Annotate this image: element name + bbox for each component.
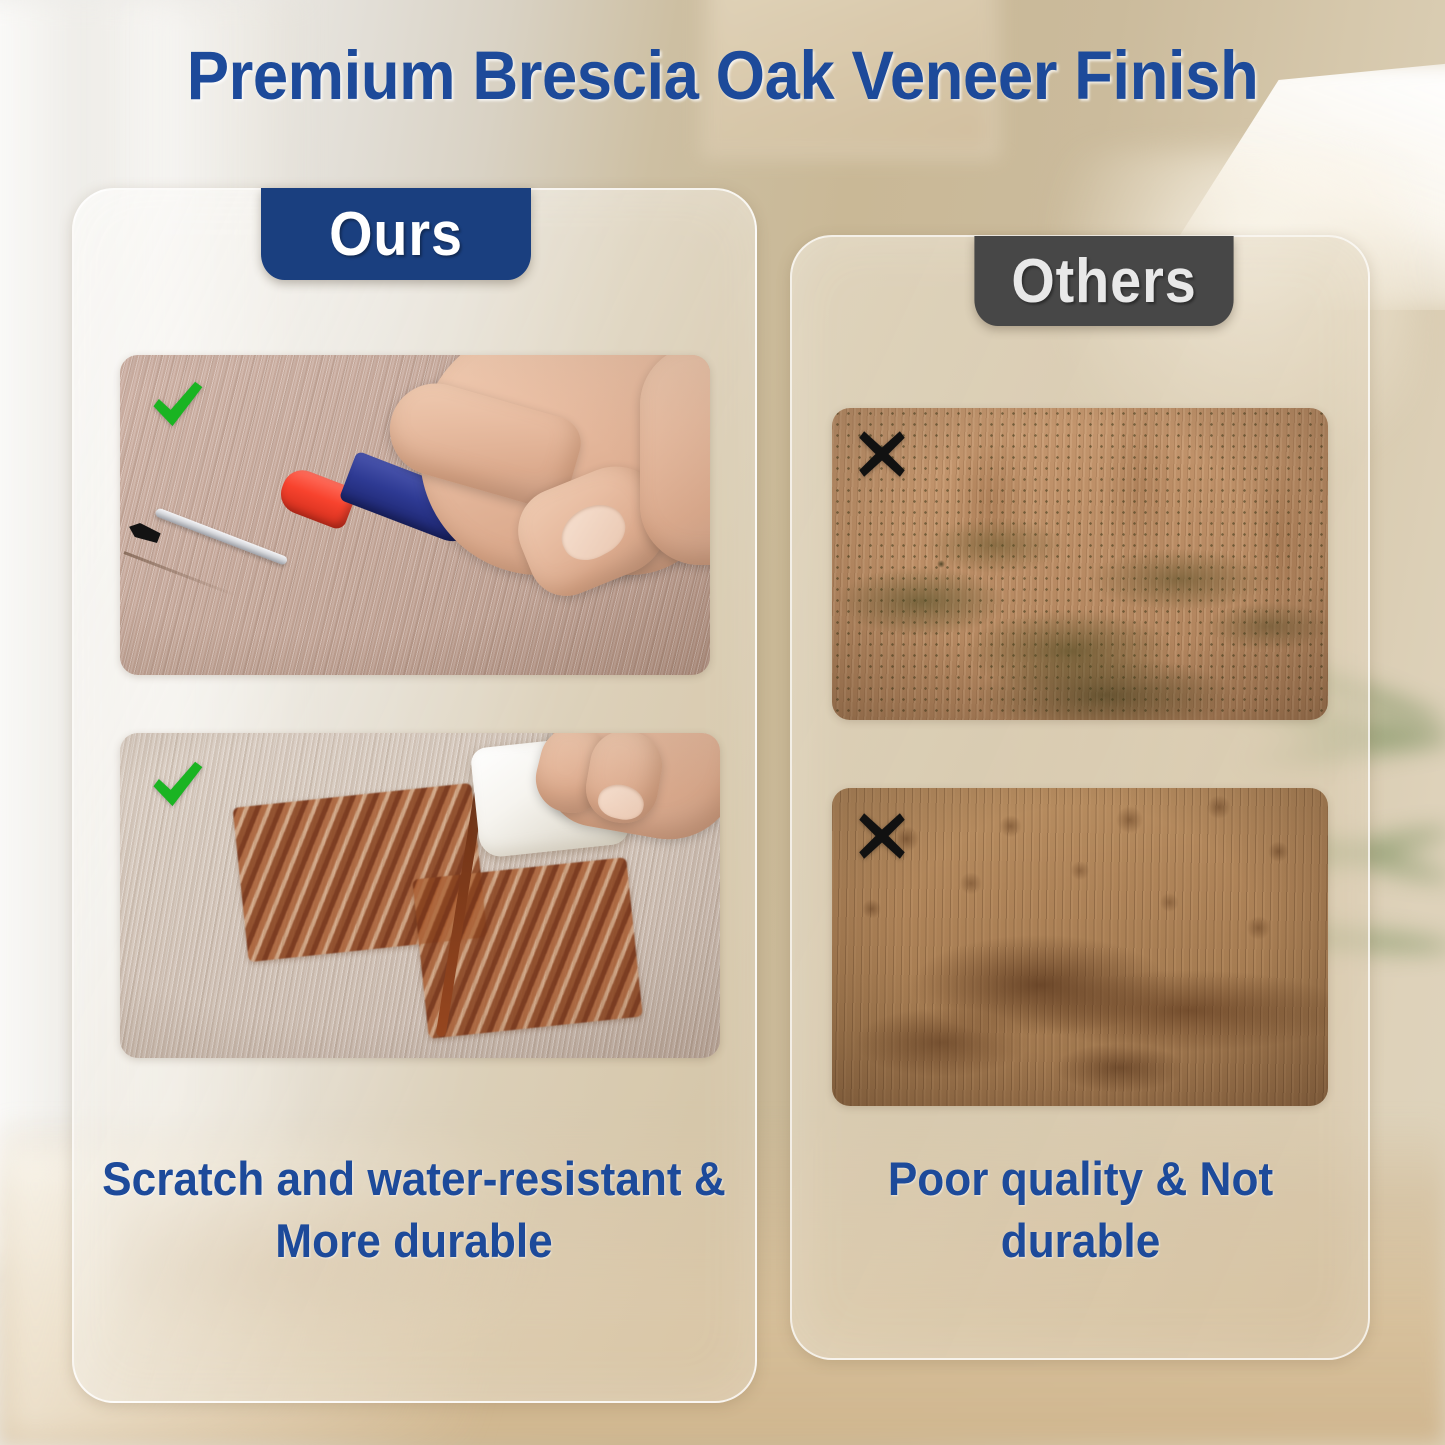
photo-vignette (120, 355, 710, 675)
others-photo-water-stain (832, 788, 1328, 1106)
black-cross-icon (856, 428, 908, 480)
black-cross-icon (856, 810, 908, 862)
ours-photo-stain-test (120, 733, 720, 1058)
ours-caption: Scratch and water-resistant & More durab… (98, 1148, 730, 1272)
page-title: Premium Brescia Oak Veneer Finish (58, 36, 1387, 115)
others-photo-mold (832, 408, 1328, 720)
ours-photo-scratch-test (120, 355, 710, 675)
photo-vignette (120, 733, 720, 1058)
others-badge: Others (974, 236, 1233, 326)
green-check-icon (148, 379, 206, 437)
green-check-icon (148, 759, 206, 817)
ours-badge: Ours (261, 188, 531, 280)
others-caption: Poor quality & Not durable (810, 1148, 1351, 1272)
